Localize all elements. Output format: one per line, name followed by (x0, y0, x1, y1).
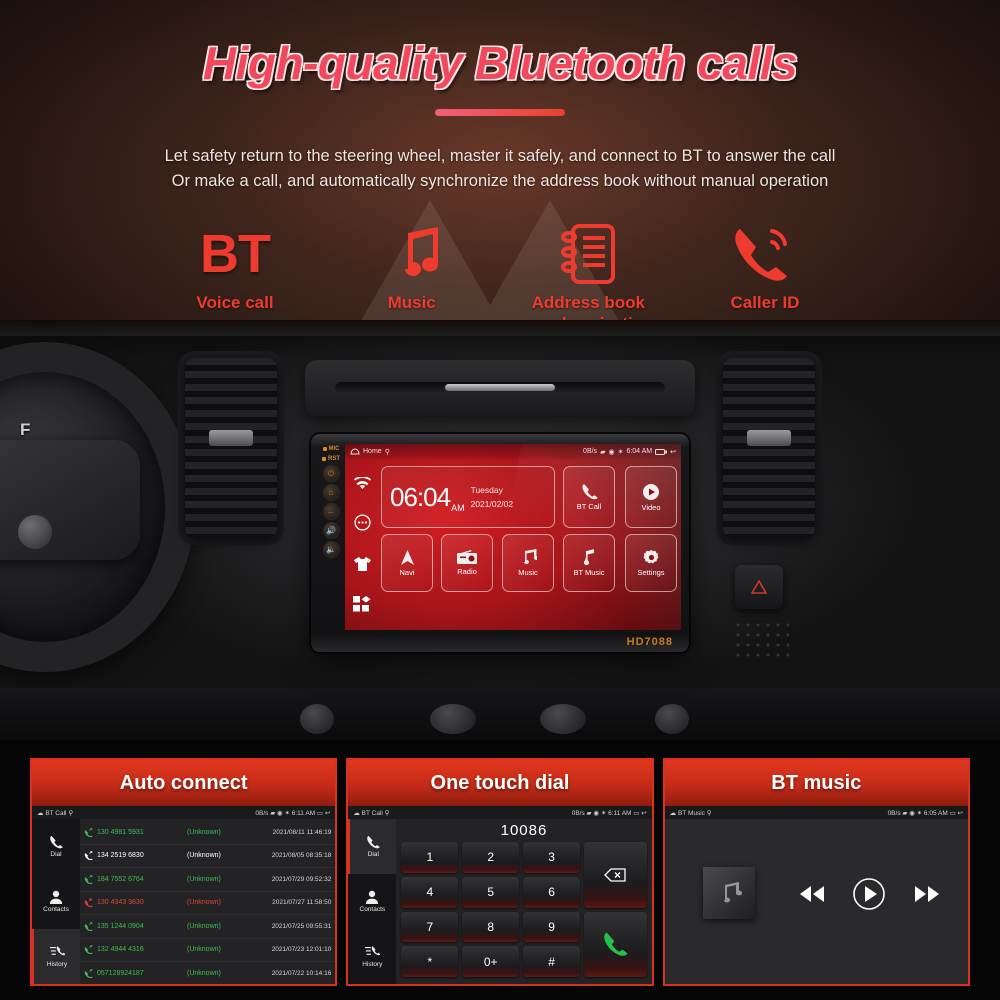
caller-name: (Unknown) (187, 852, 249, 859)
album-placeholder-icon (714, 878, 744, 908)
air-vent-right (723, 358, 815, 538)
mini-status-bar-1: ☁ BT Call ⚲ 0B/s ▰ ◉ ✶ 6:11 AM ▭ ↩ (32, 806, 335, 819)
keypad-key-6[interactable]: 6 (523, 877, 580, 908)
location-icon: ◉ (608, 448, 614, 456)
call-timestamp: 2021/07/29 09:52:32 (253, 876, 331, 883)
hero-subtitle: Let safety return to the steering wheel,… (0, 144, 1000, 194)
address-book-icon (503, 218, 673, 290)
backspace-icon (604, 868, 626, 882)
cluster-knob (18, 515, 52, 549)
clock-weekday: Tuesday (471, 483, 514, 497)
keypad-key-7[interactable]: 7 (401, 912, 458, 943)
green-call-icon (602, 931, 628, 957)
panel-one-touch-dial: One touch dial ☁ BT Call ⚲ 0B/s ▰ ◉ ✶ 6:… (346, 758, 653, 986)
backspace-key[interactable] (584, 842, 647, 908)
console-handle (445, 384, 555, 391)
incoming-call-icon (84, 969, 93, 978)
keypad-key-3[interactable]: 3 (523, 842, 580, 873)
playback-controls (785, 869, 954, 919)
call-timestamp: 2021/08/11 11:46:19 (253, 829, 331, 836)
feature-address-book: Address book synchronization (503, 218, 673, 330)
mini-time-2: 6:11 AM (608, 810, 631, 817)
phone-icon (581, 483, 598, 500)
back-icon[interactable]: ↩ (670, 448, 676, 456)
incoming-call-icon (84, 945, 93, 954)
nav-label-contacts-2: Contacts (360, 906, 386, 913)
keypad-key-0[interactable]: 0+ (462, 946, 519, 977)
panel-title-bt-music: BT music (665, 760, 968, 806)
hero-section: High-quality Bluetooth calls Let safety … (0, 0, 1000, 330)
panel-body-one-touch-dial: ☁ BT Call ⚲ 0B/s ▰ ◉ ✶ 6:11 AM ▭ ↩ Dial … (348, 806, 651, 984)
contact-person-icon (49, 890, 63, 904)
call-history-icon (50, 945, 65, 959)
clock-widget[interactable]: 06:04 AM Tuesday 2021/02/02 (381, 466, 555, 528)
nav-item-history-1[interactable]: History (32, 929, 80, 984)
tile-music[interactable]: Music (502, 534, 554, 592)
album-art (703, 867, 755, 919)
caller-name: (Unknown) (187, 876, 249, 883)
panel-body-bt-music: ☁ BT Music ⚲ 0B/s ▰ ◉ ✶ 6:05 AM ▭ ↩ (665, 806, 968, 984)
music-note-icon (327, 218, 497, 290)
panel-bt-music: BT music ☁ BT Music ⚲ 0B/s ▰ ◉ ✶ 6:05 AM… (663, 758, 970, 986)
play-button-icon[interactable] (852, 877, 886, 911)
incoming-call-icon (84, 875, 93, 884)
mic-label: MIC (329, 446, 340, 452)
mini-status-right-1: 0B/s ▰ ◉ ✶ 6:11 AM ▭ ↩ (255, 809, 330, 817)
console-knob-left[interactable] (430, 704, 476, 734)
clock-time-group: 06:04 AM (390, 482, 465, 513)
grid-apps-icon[interactable] (353, 596, 371, 612)
keypad-key-[interactable]: # (523, 946, 580, 977)
tile-settings[interactable]: Settings (625, 534, 677, 592)
call-history-row[interactable]: 184 7552 6764(Unknown)2021/07/29 09:52:3… (80, 868, 335, 892)
dialed-number-display[interactable]: 10086 (401, 822, 646, 842)
nav-label-dial-2: Dial (368, 851, 379, 858)
feature-list: BT Voice call Music Address book s (150, 218, 850, 330)
vent-tab-left (209, 430, 253, 446)
mini-app-label-2: BT Call (362, 810, 383, 817)
mic-button[interactable]: MIC (323, 446, 340, 452)
nav-label-contacts-1: Contacts (43, 906, 69, 913)
keypad-key-5[interactable]: 5 (462, 877, 519, 908)
mini-app-label-1: BT Call (45, 810, 66, 817)
mini-data-rate-2: 0B/s (572, 810, 585, 817)
radio-icon (457, 550, 477, 565)
single-note-icon (582, 549, 596, 566)
air-vent-left (185, 358, 277, 538)
hazard-triangle-icon (750, 578, 768, 596)
mini-time-3: 6:05 AM (924, 810, 948, 817)
head-unit: MIC RST ⏻ ⌂ ← 🔊 🔈 Home ⚲ 0B/s ▰ ◉ ✶ (311, 434, 689, 652)
car-cloud-icon (350, 448, 360, 455)
status-time: 6:04 AM (626, 448, 652, 455)
clock-date: 2021/02/02 (471, 497, 514, 511)
dialpad-area: 10086 123456789*0+# (396, 819, 651, 984)
mini-status-bar-3: ☁ BT Music ⚲ 0B/s ▰ ◉ ✶ 6:05 AM ▭ ↩ (665, 806, 968, 819)
caller-name: (Unknown) (187, 946, 249, 953)
call-timestamp: 2021/08/05 08:35:18 (253, 852, 331, 859)
keypad-key-8[interactable]: 8 (462, 912, 519, 943)
call-history-row[interactable]: 130 4981 5931(Unknown)2021/08/11 11:46:1… (80, 821, 335, 845)
hero-subtitle-line-1: Let safety return to the steering wheel,… (0, 144, 1000, 169)
mini-nav-1: Dial Contacts History (32, 819, 80, 984)
console-knob-far-right[interactable] (655, 704, 689, 734)
call-number: 130 4343 9830 (97, 899, 183, 906)
call-key[interactable] (584, 912, 647, 978)
home-hard-button[interactable]: ⌂ (324, 485, 339, 500)
signal-icon: ▰ (600, 448, 605, 456)
call-timestamp: 2021/07/23 12:01:10 (253, 946, 331, 953)
caller-name: (Unknown) (187, 899, 249, 906)
missed-call-icon (84, 898, 93, 907)
feature-panels: Auto connect ☁ BT Call ⚲ 0B/s ▰ ◉ ✶ 6:11… (0, 740, 1000, 1000)
console-knob-right[interactable] (540, 704, 586, 734)
nav-label-dial-1: Dial (50, 851, 61, 858)
mini-status-left-2: ☁ BT Call ⚲ (353, 809, 389, 817)
clock-time: 06:04 (390, 482, 450, 513)
apps-shirt-icon[interactable] (353, 556, 372, 572)
clock-ampm: AM (451, 503, 465, 513)
volume-up-button[interactable]: 🔊 (324, 523, 339, 538)
hero-subtitle-line-2: Or make a call, and automatically synchr… (0, 169, 1000, 194)
head-unit-screen[interactable]: Home ⚲ 0B/s ▰ ◉ ✶ 6:04 AM ↩ (345, 444, 681, 630)
tile-label-settings: Settings (637, 568, 664, 577)
fuel-gauge-label: F (20, 420, 30, 440)
tile-label-navi: Navi (399, 568, 414, 577)
bt-music-player (665, 819, 968, 984)
bluetooth-icon: ✶ (618, 448, 624, 456)
lower-console (0, 688, 1000, 740)
incoming-call-icon (84, 922, 93, 931)
mini-data-rate-3: 0B/s (888, 810, 901, 817)
call-history-row[interactable]: 057128924187(Unknown)2021/07/22 10:14:16 (80, 962, 335, 984)
call-history-list[interactable]: 130 4981 5931(Unknown)2021/08/11 11:46:1… (80, 819, 335, 984)
call-number: 135 1244 0904 (97, 923, 183, 930)
nav-item-dial-2[interactable]: Dial (348, 819, 396, 874)
clock-date-group: Tuesday 2021/02/02 (471, 483, 514, 511)
feature-label-voice-call: Voice call (150, 292, 320, 313)
keypad-key-9[interactable]: 9 (523, 912, 580, 943)
console-knob-far-left[interactable] (300, 704, 334, 734)
title-divider (435, 109, 565, 116)
feature-caller-id: Caller ID (680, 218, 850, 313)
nav-item-history-2[interactable]: History (348, 929, 396, 984)
panel-title-one-touch-dial: One touch dial (348, 760, 651, 806)
call-number: 134 2519 6830 (97, 852, 183, 859)
incoming-call-icon (84, 851, 93, 860)
phone-signal-icon (680, 218, 850, 290)
mini-time-1: 6:11 AM (292, 810, 315, 817)
power-button[interactable]: ⏻ (324, 466, 339, 481)
feature-label-music: Music (327, 292, 497, 313)
bt-glyph: BT (200, 227, 270, 281)
call-timestamp: 2021/07/22 10:14:16 (253, 970, 331, 977)
nav-label-history-2: History (362, 961, 382, 968)
caller-name: (Unknown) (187, 923, 249, 930)
car-dashboard-photo: F MIC RST ⏻ ⌂ ← 🔊 🔈 (0, 320, 1000, 740)
home-tiles: 06:04 AM Tuesday 2021/02/02 BT Call Vide… (381, 462, 679, 627)
keypad-key-1[interactable]: 1 (401, 842, 458, 873)
bt-text-icon: BT (150, 218, 320, 290)
status-home-label: Home (363, 448, 382, 455)
head-unit-physical-buttons: MIC RST ⏻ ⌂ ← 🔊 🔈 (320, 446, 342, 624)
navigation-arrow-icon (400, 549, 415, 566)
call-number: 130 4981 5931 (97, 829, 183, 836)
tile-label-bt-music: BT Music (573, 568, 604, 577)
head-unit-model-label: HD7088 (627, 636, 673, 648)
screen-sidebar (345, 459, 379, 630)
mini-status-right-2: 0B/s ▰ ◉ ✶ 6:11 AM ▭ ↩ (572, 809, 647, 817)
panel-auto-connect: Auto connect ☁ BT Call ⚲ 0B/s ▰ ◉ ✶ 6:11… (30, 758, 337, 986)
call-history-row[interactable]: 130 4343 9830(Unknown)2021/07/27 11:58:5… (80, 892, 335, 916)
nav-item-contacts-1[interactable]: Contacts (32, 874, 80, 929)
music-note-icon (519, 549, 537, 566)
page-title: High-quality Bluetooth calls (0, 36, 1000, 90)
nav-label-history-1: History (47, 961, 67, 968)
phone-icon (366, 835, 380, 849)
feature-label-caller-id: Caller ID (680, 292, 850, 313)
tile-label-music: Music (518, 568, 538, 577)
keypad: 123456789*0+# (401, 842, 646, 977)
vent-tab-right (747, 430, 791, 446)
reset-button[interactable]: RST (322, 456, 340, 462)
nav-item-contacts-2[interactable]: Contacts (348, 874, 396, 929)
gear-icon (643, 549, 660, 566)
tile-label-radio: Radio (457, 567, 477, 576)
call-timestamp: 2021/07/27 11:58:50 (253, 899, 331, 906)
incoming-call-icon (84, 828, 93, 837)
console-trim (305, 360, 695, 416)
volume-down-button[interactable]: 🔈 (324, 542, 339, 557)
prev-track-icon[interactable] (799, 885, 825, 903)
call-timestamp: 2021/07/25 09:55:31 (253, 923, 331, 930)
panel-body-auto-connect: ☁ BT Call ⚲ 0B/s ▰ ◉ ✶ 6:11 AM ▭ ↩ Dial … (32, 806, 335, 984)
feature-voice-call: BT Voice call (150, 218, 320, 313)
dash-top-strip (0, 320, 1000, 336)
data-rate-label: 0B/s (583, 448, 597, 455)
mini-status-right-3: 0B/s ▰ ◉ ✶ 6:05 AM ▭ ↩ (888, 809, 963, 817)
mini-status-left-3: ☁ BT Music ⚲ (670, 809, 712, 817)
usb-icon: ⚲ (385, 448, 390, 456)
status-bar: Home ⚲ 0B/s ▰ ◉ ✶ 6:04 AM ↩ (345, 444, 681, 459)
call-history-row[interactable]: 135 1244 0904(Unknown)2021/07/25 09:55:3… (80, 915, 335, 939)
next-track-icon[interactable] (914, 885, 940, 903)
tile-bt-call[interactable]: BT Call (563, 466, 615, 528)
hazard-light-button[interactable] (735, 565, 783, 609)
tile-label-video: Video (641, 503, 660, 512)
call-history-row[interactable]: 132 4944 4316(Unknown)2021/07/23 12:01:1… (80, 939, 335, 963)
caller-name: (Unknown) (187, 829, 249, 836)
tile-radio[interactable]: Radio (441, 534, 493, 592)
play-circle-icon (642, 483, 660, 501)
mini-app-label-3: BT Music (678, 810, 705, 817)
reset-label: RST (328, 456, 340, 462)
tile-video[interactable]: Video (625, 466, 677, 528)
nav-item-dial-1[interactable]: Dial (32, 819, 80, 874)
mini-nav-2: Dial Contacts History (348, 819, 396, 984)
contact-person-icon (365, 890, 379, 904)
keypad-key-2[interactable]: 2 (462, 842, 519, 873)
tile-bt-music[interactable]: BT Music (563, 534, 615, 592)
keypad-key-[interactable]: * (401, 946, 458, 977)
more-dots-icon[interactable] (354, 514, 371, 531)
call-history-icon (365, 945, 380, 959)
back-hard-button[interactable]: ← (324, 504, 339, 519)
tile-label-bt-call: BT Call (577, 502, 601, 511)
keypad-key-4[interactable]: 4 (401, 877, 458, 908)
call-history-row[interactable]: 134 2519 6830(Unknown)2021/08/05 08:35:1… (80, 845, 335, 869)
mini-status-left-1: ☁ BT Call ⚲ (37, 809, 73, 817)
feature-music: Music (327, 218, 497, 313)
panel-title-auto-connect: Auto connect (32, 760, 335, 806)
mini-status-bar-2: ☁ BT Call ⚲ 0B/s ▰ ◉ ✶ 6:11 AM ▭ ↩ (348, 806, 651, 819)
battery-icon (655, 449, 667, 455)
phone-icon (49, 835, 63, 849)
mini-data-rate-1: 0B/s (255, 810, 268, 817)
speaker-grille (733, 620, 789, 660)
call-number: 132 4944 4316 (97, 946, 183, 953)
call-number: 184 7552 6764 (97, 876, 183, 883)
caller-name: (Unknown) (187, 970, 249, 977)
call-number: 057128924187 (97, 970, 183, 977)
wifi-icon[interactable] (354, 477, 371, 490)
tile-navi[interactable]: Navi (381, 534, 433, 592)
